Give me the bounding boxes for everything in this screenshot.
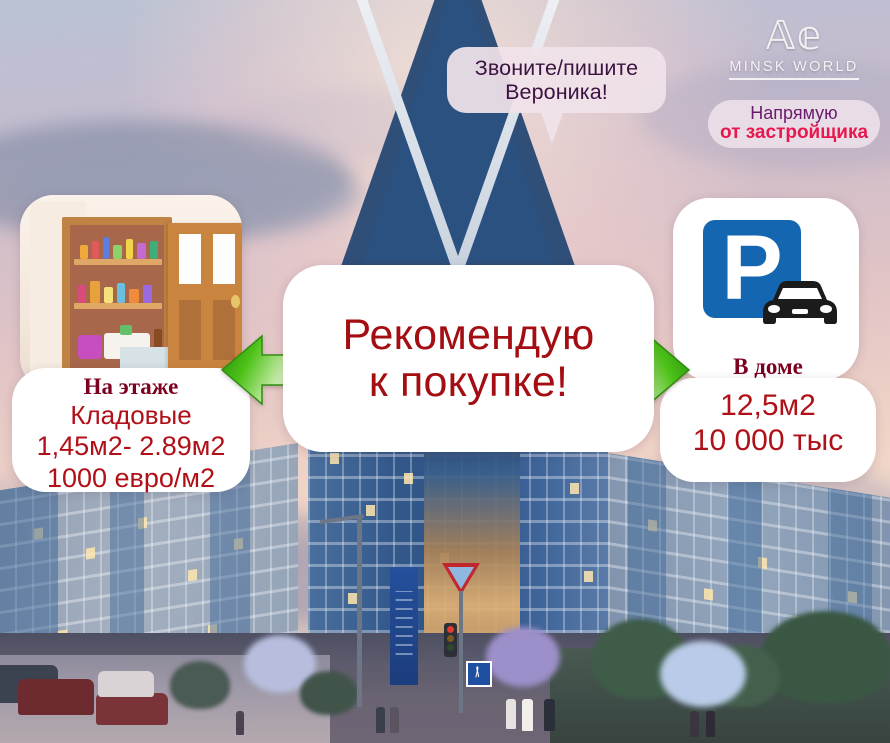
shelf-item: [104, 287, 113, 303]
pedestrian: [690, 711, 699, 737]
speech-line-2: Вероника!: [475, 80, 638, 105]
speech-bubble-contact[interactable]: Звоните/пишите Вероника!: [447, 47, 666, 113]
door-knob: [231, 295, 240, 308]
door-glass-pane: [176, 231, 204, 287]
storage-line-1: Кладовые: [12, 400, 250, 431]
shelf-item: [117, 283, 125, 303]
direct-from-developer-badge[interactable]: Напрямую от застройщика: [708, 100, 880, 148]
parking-card[interactable]: P: [673, 198, 859, 380]
pedestrian: [506, 699, 516, 729]
tree: [760, 611, 890, 703]
shelf-item: [92, 241, 99, 259]
shelf-item: [78, 285, 86, 303]
traffic-light: [444, 623, 457, 657]
door-frame: [62, 217, 172, 377]
recommendation-bubble[interactable]: Рекомендую к покупке!: [283, 265, 654, 452]
pedestrian-crossing-sign: [466, 661, 492, 687]
shelf-item: [103, 237, 109, 259]
recommendation-line-2: к покупке!: [343, 359, 595, 405]
storage-room-card[interactable]: [20, 195, 242, 391]
shelf: [74, 259, 162, 265]
shelf: [74, 303, 162, 309]
pedestrian: [522, 699, 533, 731]
floor-item-appliance: [78, 335, 102, 359]
car: [96, 693, 168, 725]
door-glass-pane: [210, 231, 238, 287]
car: [98, 671, 154, 697]
blossom-tree: [660, 641, 746, 707]
building-peak-glass: [362, 0, 554, 263]
sign-pole: [459, 591, 463, 713]
car-icon: [757, 276, 843, 328]
shelf-item: [90, 281, 100, 303]
pedestrian: [706, 711, 715, 737]
minsk-world-logo[interactable]: 𝔸𝕖 MINSK WORLD: [714, 14, 874, 98]
speech-bubble-text: Звоните/пишите Вероника!: [475, 56, 638, 105]
street-lamp-pole: [357, 515, 362, 707]
floor-item: [120, 325, 132, 335]
blossom-tree: [486, 627, 560, 687]
door-wood-panel: [176, 297, 204, 363]
pedestrian: [376, 707, 385, 733]
promo-flyer: Звоните/пишите Вероника! 𝔸𝕖 MINSK WORLD …: [0, 0, 890, 743]
minsk-world-street-banner: [390, 567, 418, 685]
tree: [170, 661, 230, 709]
storage-heading: На этаже: [12, 374, 250, 400]
speech-bubble-tail: [540, 110, 564, 144]
shelf-item: [137, 243, 146, 259]
parking-line-2: 10 000 тыс: [660, 423, 876, 458]
room-interior: [70, 225, 164, 377]
mw-monogram-icon: 𝔸𝕖: [714, 14, 874, 58]
shelf-item: [143, 285, 152, 303]
pedestrian: [390, 707, 399, 733]
badge-line-1: Напрямую: [708, 104, 880, 123]
shelf-item: [150, 241, 158, 259]
shelf-item: [126, 239, 133, 259]
storage-line-3: 1000 евро/м2: [12, 463, 250, 495]
car: [18, 679, 94, 715]
pedestrian: [544, 699, 555, 731]
storage-line-2: 1,45м2- 2.89м2: [12, 431, 250, 463]
badge-line-2: от застройщика: [708, 123, 880, 144]
recommendation-line-1: Рекомендую: [343, 312, 595, 358]
pedestrian: [236, 711, 244, 735]
storage-room-illustration: [20, 195, 242, 391]
tree: [300, 671, 358, 715]
storage-info-card[interactable]: На этаже Кладовые 1,45м2- 2.89м2 1000 ев…: [12, 368, 250, 492]
shelf-item: [113, 245, 122, 259]
shelf-item: [80, 245, 88, 259]
shelf-item: [129, 289, 139, 303]
recommendation-text: Рекомендую к покупке!: [343, 312, 595, 405]
logo-wordmark: MINSK WORLD: [729, 59, 858, 80]
speech-line-1: Звоните/пишите: [475, 56, 638, 81]
